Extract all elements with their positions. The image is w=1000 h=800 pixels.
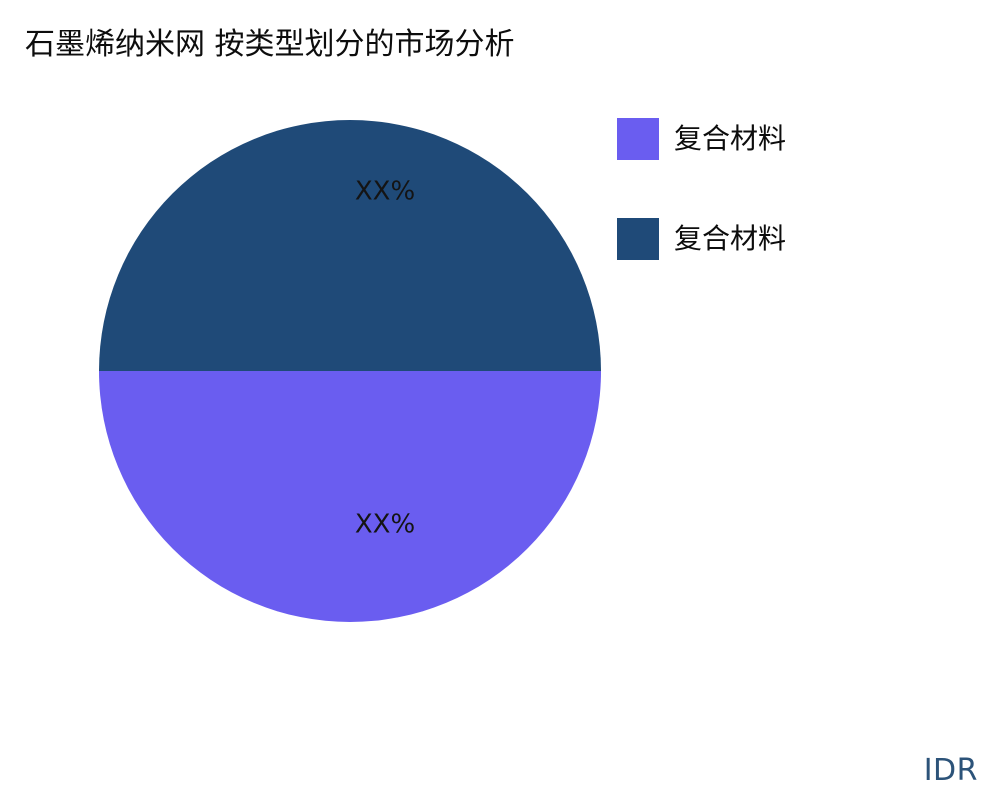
watermark-idr: IDR xyxy=(924,755,978,787)
chart-slide: 石墨烯纳米网 按类型划分的市场分析 XX% XX% 复合材料 复合材料 IDR xyxy=(0,0,1000,800)
pie-slice-label-top: XX% xyxy=(355,177,415,207)
legend: 复合材料 复合材料 xyxy=(617,118,947,318)
pie-chart: XX% XX% xyxy=(99,120,601,622)
pie-slice-bottom[interactable] xyxy=(99,371,601,622)
legend-label-1: 复合材料 xyxy=(674,218,786,260)
pie-slice-top[interactable] xyxy=(99,120,601,371)
pie-slice-label-bottom: XX% xyxy=(355,510,415,540)
legend-item-1[interactable]: 复合材料 xyxy=(617,218,947,260)
legend-swatch-icon-1 xyxy=(617,218,659,260)
legend-item-0[interactable]: 复合材料 xyxy=(617,118,947,160)
legend-swatch-icon-0 xyxy=(617,118,659,160)
pie-chart-svg: XX% XX% xyxy=(99,120,601,622)
page-title: 石墨烯纳米网 按类型划分的市场分析 xyxy=(25,25,515,65)
legend-label-0: 复合材料 xyxy=(674,118,786,160)
